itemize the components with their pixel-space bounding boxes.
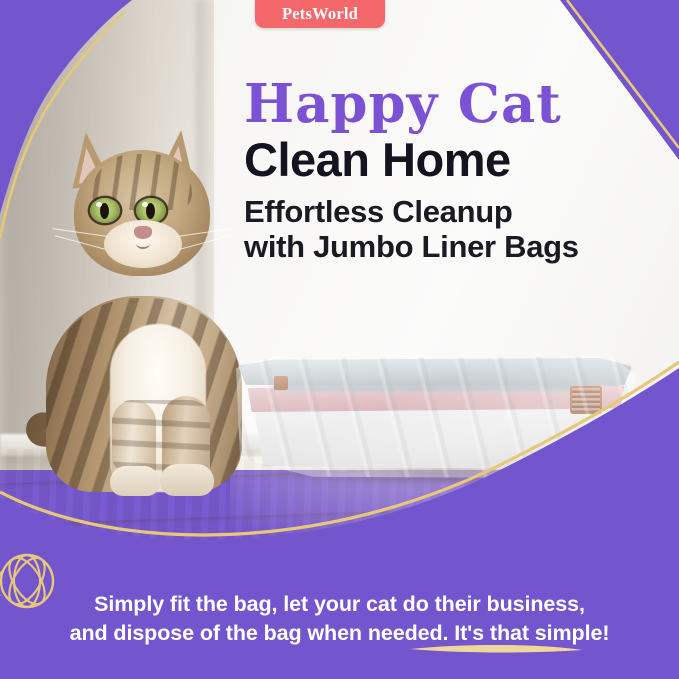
headline-line-2: Clean Home xyxy=(244,135,668,185)
purple-curve-top-left xyxy=(0,0,132,214)
headline-block: Happy Cat Clean Home Effortless Cleanup … xyxy=(244,78,668,264)
brand-name: PetsWorld xyxy=(282,4,358,24)
headline-line-1: Happy Cat xyxy=(244,78,668,131)
subheadline-line-1: Effortless Cleanup xyxy=(244,194,668,229)
brand-logo-badge[interactable]: PetsWorld xyxy=(255,0,385,28)
caption-line-1: Simply fit the bag, let your cat do thei… xyxy=(94,592,585,616)
subheadline-line-2: with Jumbo Liner Bags xyxy=(244,229,668,264)
caption-line-2: and dispose of the bag when needed. It's… xyxy=(0,619,679,648)
ad-creative: PetsWorld Happy Cat Clean Home Effortles… xyxy=(0,0,679,679)
footer-caption: Simply fit the bag, let your cat do thei… xyxy=(0,590,679,648)
